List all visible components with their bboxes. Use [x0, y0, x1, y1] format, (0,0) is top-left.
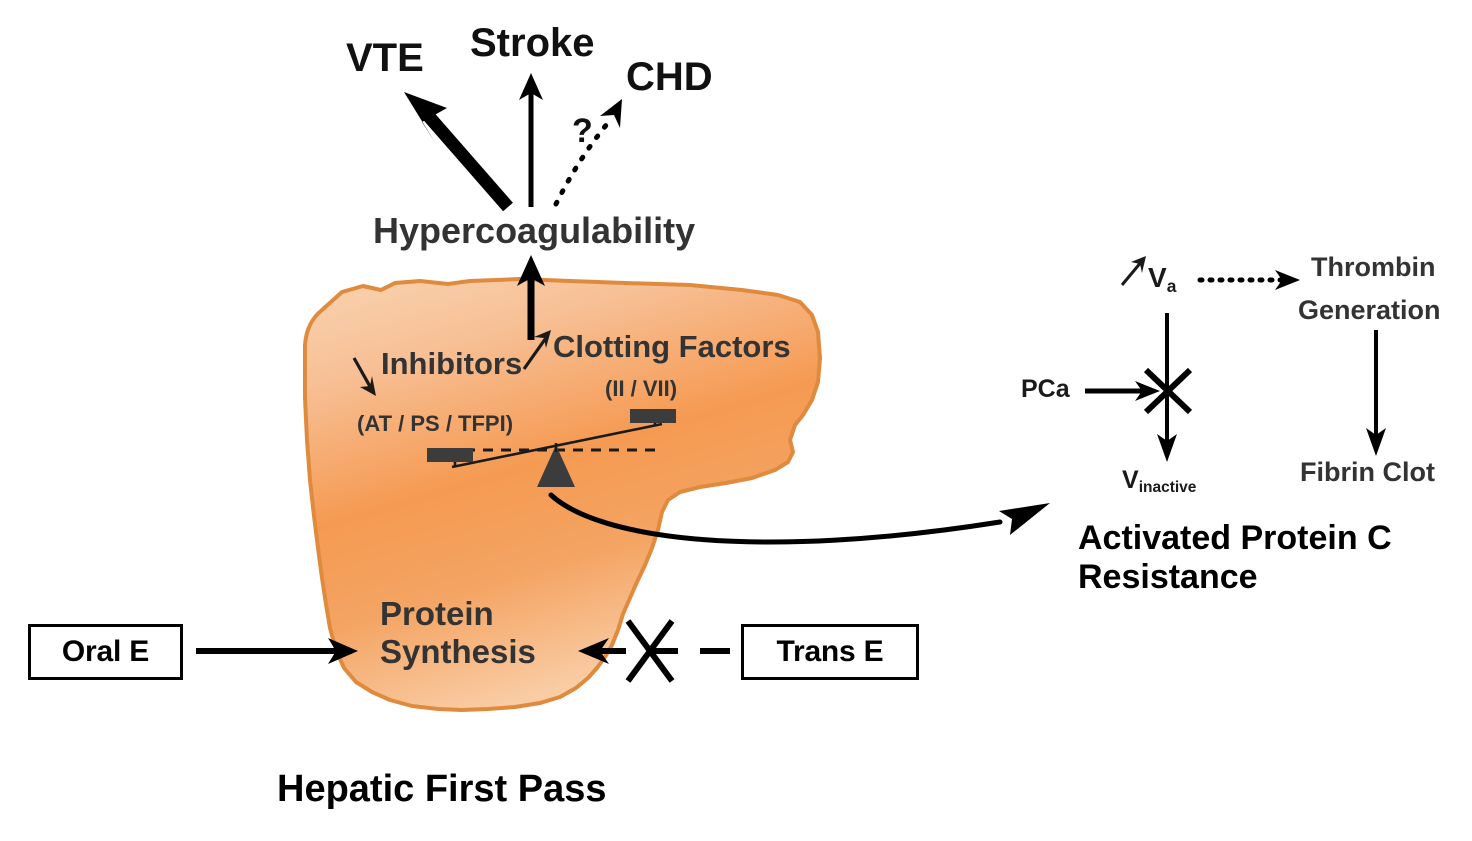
factor-va-subscript: a — [1167, 276, 1177, 296]
trans-estrogen-label: Trans E — [777, 635, 884, 669]
oral-estrogen-label: Oral E — [62, 635, 149, 669]
outcome-chd-label: CHD — [626, 55, 713, 100]
inhibitors-down-arrow — [354, 358, 376, 396]
factor-va-label: Va — [1148, 262, 1176, 293]
oral-e-arrow — [196, 638, 358, 664]
thrombin-to-fibrin-arrow — [1366, 330, 1386, 456]
protein-synthesis-line1: Protein — [380, 595, 536, 633]
oral-estrogen-box[interactable]: Oral E — [28, 624, 183, 680]
outcome-vte-label: VTE — [346, 36, 424, 81]
v-inactive-base: V — [1122, 466, 1139, 494]
pca-arrow — [1085, 381, 1160, 401]
clotting-factors-up-arrow — [524, 330, 551, 369]
va-inactivation-arrow — [1146, 313, 1190, 462]
diagram-canvas: VTE Stroke CHD ? Hypercoagulability Clot… — [0, 0, 1472, 841]
pca-label: PCa — [1021, 375, 1070, 403]
hypercoagulability-arrow — [517, 255, 545, 340]
inhibitors-label: Inhibitors — [381, 347, 522, 382]
fibrin-clot-label: Fibrin Clot — [1300, 457, 1435, 487]
clotting-factors-detail-label: (II / VII) — [605, 377, 677, 402]
factor-va-up-arrow — [1122, 256, 1146, 285]
figure-caption: Hepatic First Pass — [277, 768, 606, 811]
factor-va-base: V — [1148, 262, 1167, 293]
thrombin-generation-line1: Thrombin — [1311, 252, 1435, 282]
apc-resistance-line1: Activated Protein C — [1078, 519, 1392, 558]
inhibitors-detail-label: (AT / PS / TFPI) — [357, 412, 513, 437]
apc-curved-arrow — [551, 495, 1050, 542]
v-inactive-subscript: inactive — [1139, 479, 1197, 496]
apc-resistance-heading: Activated Protein C Resistance — [1078, 519, 1392, 598]
thrombin-generation-line2: Generation — [1298, 295, 1441, 325]
trans-estrogen-box[interactable]: Trans E — [741, 624, 919, 680]
clotting-factors-label: Clotting Factors — [553, 330, 791, 365]
apc-resistance-line2: Resistance — [1078, 558, 1392, 597]
stroke-arrow — [519, 73, 543, 207]
uncertainty-question-mark: ? — [572, 112, 593, 150]
hypercoagulability-label: Hypercoagulability — [373, 211, 695, 251]
vte-arrow — [404, 92, 508, 207]
protein-synthesis-line2: Synthesis — [380, 633, 536, 671]
v-inactive-label: Vinactive — [1122, 466, 1196, 494]
va-to-thrombin-dotted-arrow — [1200, 270, 1300, 290]
diagram-vector-layer — [0, 0, 1472, 841]
outcome-stroke-label: Stroke — [470, 21, 595, 66]
protein-synthesis-label: Protein Synthesis — [380, 595, 536, 672]
trans-e-blocked-arrow — [578, 621, 730, 681]
